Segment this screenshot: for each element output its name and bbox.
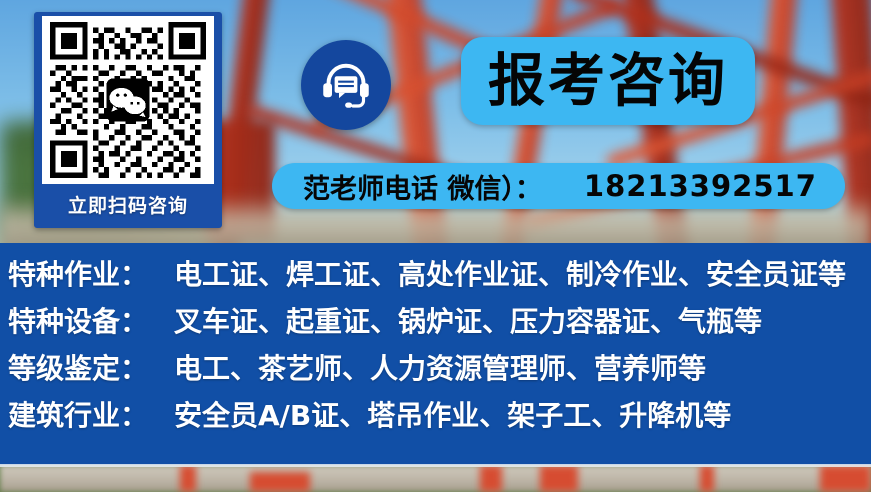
category-row: 特种作业： 电工证、焊工证、高处作业证、制冷作业、安全员证等 bbox=[0, 253, 871, 300]
page-title: 报考咨询 bbox=[488, 53, 728, 110]
crane-beam bbox=[540, 465, 578, 492]
category-name: 特种设备： bbox=[8, 300, 156, 340]
crane-beam bbox=[480, 465, 502, 492]
category-name: 建筑行业： bbox=[8, 394, 156, 434]
category-row: 建筑行业： 安全员A/B证、塔吊作业、架子工、升降机等 bbox=[0, 394, 871, 441]
category-name: 等级鉴定： bbox=[8, 347, 156, 387]
category-name: 特种作业： bbox=[8, 253, 156, 293]
promo-poster: 立即扫码咨询 报考咨询 范老师电话 微信）： 18213392517 特种作业：… bbox=[0, 0, 871, 492]
contact-label: 范老师电话 微信）： bbox=[303, 167, 542, 206]
panel-bottom-edge bbox=[0, 464, 871, 467]
crane-beam bbox=[180, 465, 196, 492]
category-items: 电工证、焊工证、高处作业证、制冷作业、安全员证等 bbox=[174, 253, 846, 293]
category-items: 叉车证、起重证、锅炉证、压力容器证、气瓶等 bbox=[174, 300, 762, 340]
contact-pill[interactable]: 范老师电话 微信）： 18213392517 bbox=[272, 163, 845, 209]
categories-panel: 特种作业： 电工证、焊工证、高处作业证、制冷作业、安全员证等 特种设备： 叉车证… bbox=[0, 243, 871, 465]
crane-beam bbox=[250, 472, 310, 492]
crane-beam bbox=[700, 465, 714, 492]
title-pill[interactable]: 报考咨询 bbox=[461, 37, 755, 125]
wechat-icon bbox=[106, 78, 149, 121]
category-items: 电工、茶艺师、人力资源管理师、营养师等 bbox=[174, 347, 706, 387]
qr-caption: 立即扫码咨询 bbox=[68, 184, 188, 224]
qr-code-area[interactable] bbox=[42, 16, 214, 184]
contact-phone-number[interactable]: 18213392517 bbox=[584, 169, 817, 203]
category-row: 等级鉴定： 电工、茶艺师、人力资源管理师、营养师等 bbox=[0, 347, 871, 394]
category-row: 特种设备： 叉车证、起重证、锅炉证、压力容器证、气瓶等 bbox=[0, 300, 871, 347]
crane-beam bbox=[820, 465, 871, 492]
headset-support-icon bbox=[318, 57, 374, 113]
category-items: 安全员A/B证、塔吊作业、架子工、升降机等 bbox=[174, 394, 731, 434]
qr-card[interactable]: 立即扫码咨询 bbox=[34, 12, 222, 228]
bottom-photo-strip bbox=[0, 465, 871, 492]
qr-code-icon[interactable] bbox=[50, 22, 206, 178]
support-badge[interactable] bbox=[301, 40, 391, 130]
